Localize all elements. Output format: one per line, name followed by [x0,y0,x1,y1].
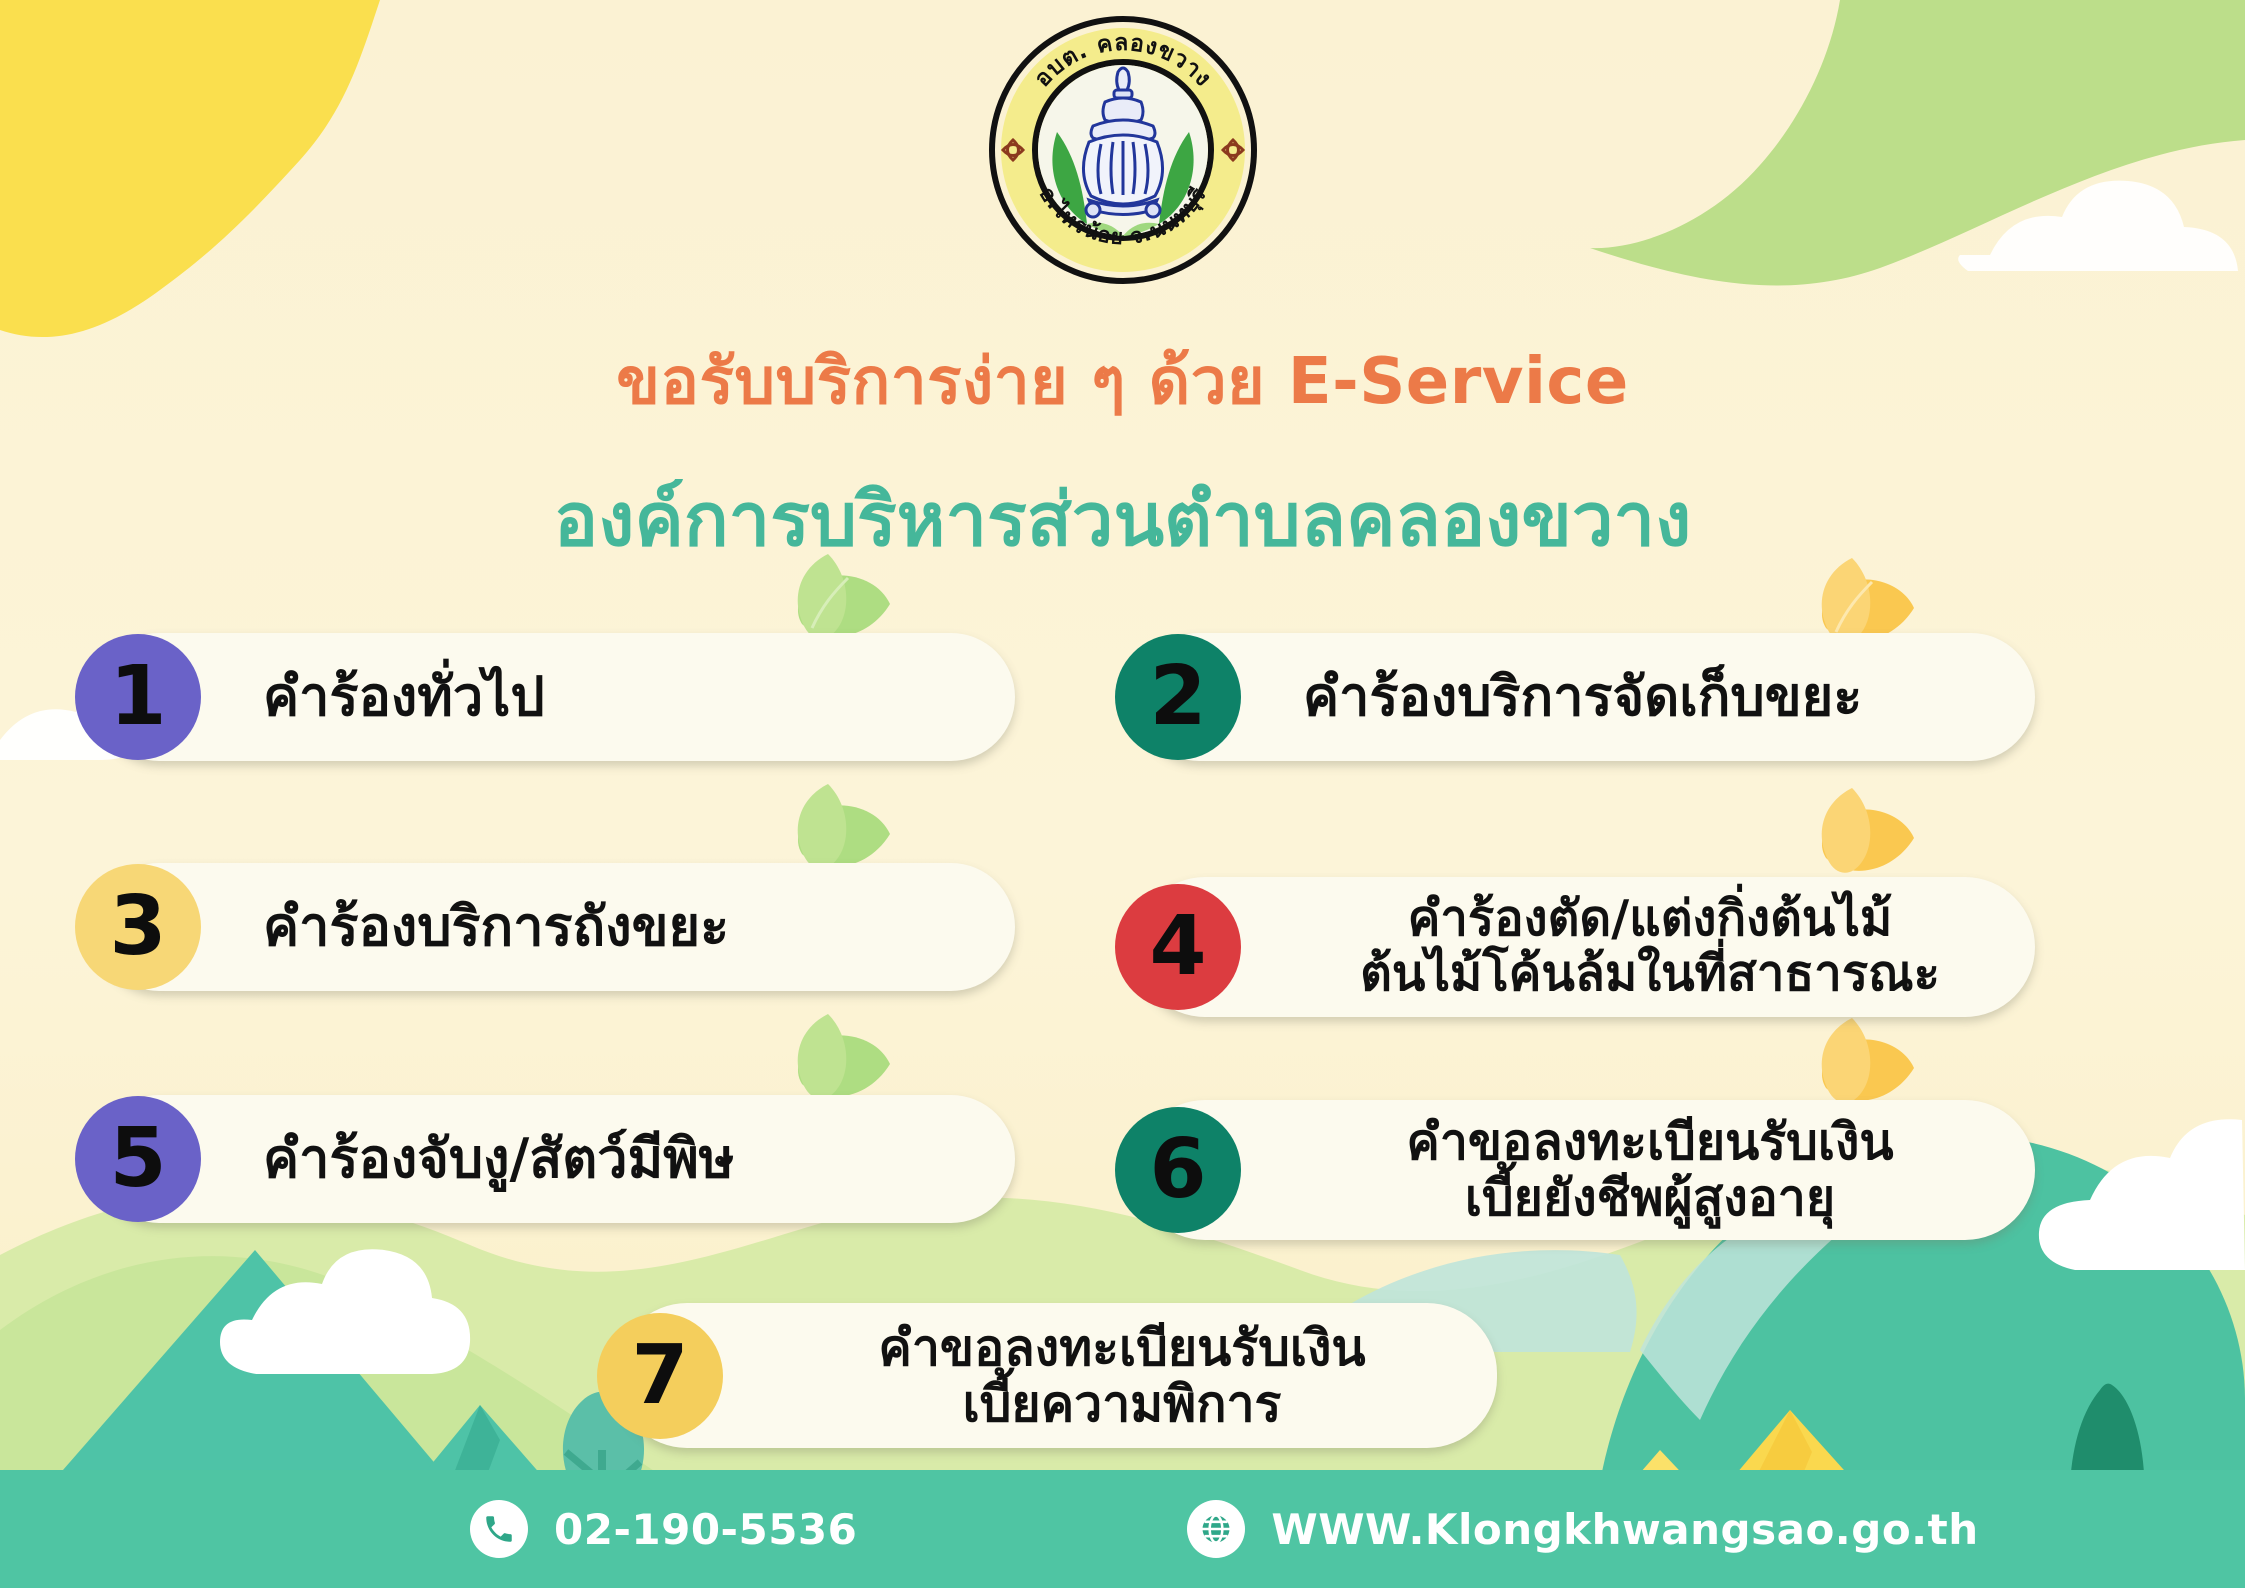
leaf-green-2 [798,784,890,869]
cloud-bottomright [2039,1119,2245,1270]
service-number-badge-1: 1 [75,634,201,760]
phone-number: 02-190-5536 [554,1505,857,1554]
leaf-yellow-3 [1822,1018,1914,1103]
service-card-5[interactable]: 5 คำร้องจับงู/สัตว์มีพิษ [95,1095,1015,1223]
service-number-badge-7: 7 [597,1313,723,1439]
cloud-bottomleft [220,1249,470,1374]
service-number-badge-5: 5 [75,1096,201,1222]
service-label-1: คำร้องทั่วไป [263,667,545,727]
footer-website[interactable]: WWW.Klongkhwangsao.go.th [1187,1500,1978,1558]
service-card-1[interactable]: 1 คำร้องทั่วไป [95,633,1015,761]
service-card-6[interactable]: 6 คำขอลงทะเบียนรับเงิน เบี้ยยังชีพผู้สูง… [1135,1100,2035,1240]
page-title-sub: องค์การบริหารส่วนตำบลคลองขวาง [0,460,2245,578]
phone-icon [470,1500,528,1558]
leaf-yellow-2 [1822,788,1914,873]
service-number-badge-4: 4 [1115,884,1241,1010]
service-label-4: คำร้องตัด/แต่งกิ่งต้นไม้ ต้นไม้โค้นล้มใน… [1135,892,2035,1002]
service-label-6: คำขอลงทะเบียนรับเงิน เบี้ยยังชีพผู้สูงอา… [1135,1114,2035,1226]
service-label-5: คำร้องจับงู/สัตว์มีพิษ [263,1129,734,1189]
globe-icon [1187,1500,1245,1558]
blob-yellow-topleft [0,0,380,337]
footer-phone[interactable]: 02-190-5536 [470,1500,857,1558]
cloud-topright [1958,181,2238,271]
service-number-badge-2: 2 [1115,634,1241,760]
service-card-3[interactable]: 3 คำร้องบริการถังขยะ [95,863,1015,991]
municipal-seal-logo: อบต. คลองขวาง อ.ไทรน้อย จ.นนทบุรี [983,10,1263,290]
service-number-badge-3: 3 [75,864,201,990]
service-label-3: คำร้องบริการถังขยะ [263,897,729,957]
blob-green-topright [1590,0,2245,285]
website-url: WWW.Klongkhwangsao.go.th [1271,1505,1978,1554]
poster-root: อบต. คลองขวาง อ.ไทรน้อย จ.นนทบุรี ขอรับบ… [0,0,2245,1588]
service-card-2[interactable]: 2 คำร้องบริการจัดเก็บขยะ [1135,633,2035,761]
footer-bar: 02-190-5536 WWW.Klongkhwangsao.go.th [0,1470,2245,1588]
page-title-main: ขอรับบริการง่าย ๆ ด้วย E-Service [0,330,2245,432]
service-label-7: คำขอลงทะเบียนรับเงิน เบี้ยความพิการ [617,1320,1497,1432]
service-card-4[interactable]: 4 คำร้องตัด/แต่งกิ่งต้นไม้ ต้นไม้โค้นล้ม… [1135,877,2035,1017]
service-label-2: คำร้องบริการจัดเก็บขยะ [1303,667,1862,727]
service-number-badge-6: 6 [1115,1107,1241,1233]
service-card-7[interactable]: 7 คำขอลงทะเบียนรับเงิน เบี้ยความพิการ [617,1303,1497,1448]
leaf-green-3 [798,1014,890,1099]
